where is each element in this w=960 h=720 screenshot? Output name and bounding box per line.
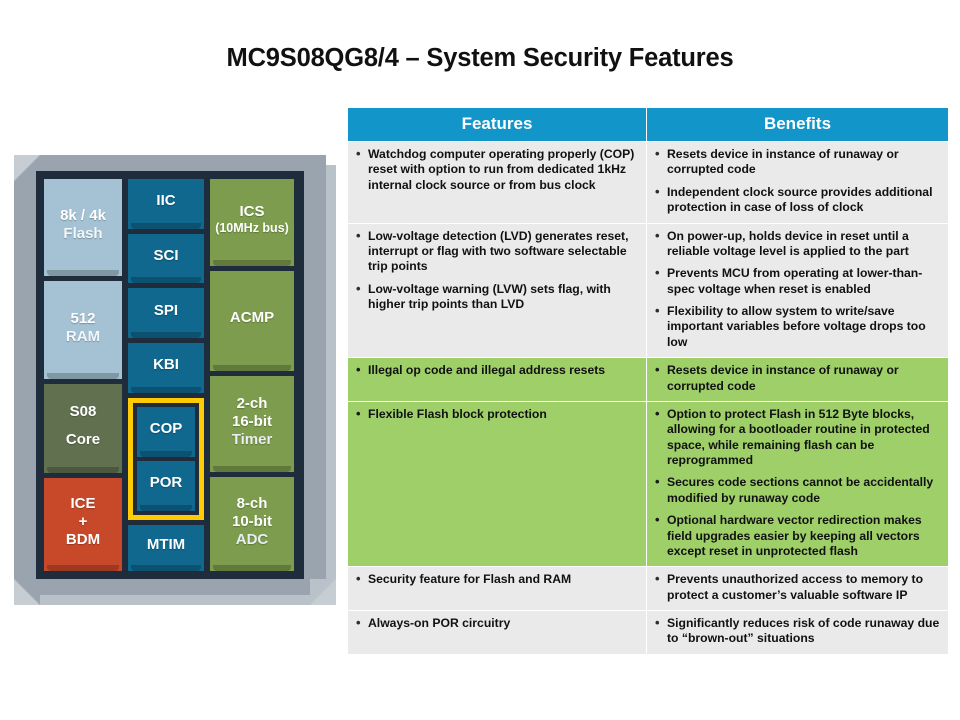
- chip-frame-corner-bottom-left: [14, 579, 40, 605]
- bullet-item: Optional hardware vector redirection mak…: [653, 513, 940, 559]
- bullet-item: Prevents MCU from operating at lower-tha…: [653, 266, 940, 297]
- table-body: Watchdog computer operating properly (CO…: [348, 142, 949, 655]
- chip-block-s08-core: S08 Core: [44, 384, 122, 474]
- bullet-item: Low-voltage warning (LVW) sets flag, wit…: [354, 282, 638, 313]
- chip-block-acmp: ACMP: [210, 271, 294, 371]
- bullet-list: Security feature for Flash and RAM: [354, 572, 638, 587]
- chip-block-timer-line2: 16-bit: [232, 413, 272, 431]
- chip-block-ram-line1: 512: [70, 310, 95, 328]
- bullet-list: Illegal op code and illegal address rese…: [354, 363, 638, 378]
- bullet-list: On power-up, holds device in reset until…: [653, 229, 940, 351]
- chip-block-ice-bdm-line3: BDM: [66, 531, 100, 549]
- chip-block-cop-label: COP: [150, 420, 183, 438]
- chip-block-columns: 8k / 4k Flash 512 RAM S08 Core ICE + BDM…: [44, 179, 296, 571]
- table-row: Low-voltage detection (LVD) generates re…: [348, 223, 949, 358]
- chip-block-timer: 2-ch 16-bit Timer: [210, 376, 294, 472]
- bullet-list: Prevents unauthorized access to memory t…: [653, 572, 940, 603]
- bullet-item: Flexibility to allow system to write/sav…: [653, 304, 940, 350]
- features-cell: Watchdog computer operating properly (CO…: [348, 142, 647, 224]
- bullet-item: On power-up, holds device in reset until…: [653, 229, 940, 260]
- chip-column-analog-clock: ICS (10MHz bus) ACMP 2-ch 16-bit Timer 8…: [210, 179, 294, 571]
- chip-block-ice-bdm: ICE + BDM: [44, 478, 122, 571]
- bullet-list: Significantly reduces risk of code runaw…: [653, 616, 940, 647]
- bullet-list: Resets device in instance of runaway or …: [653, 147, 940, 216]
- chip-block-adc: 8-ch 10-bit ADC: [210, 477, 294, 571]
- bullet-item: Resets device in instance of runaway or …: [653, 363, 940, 394]
- bullet-item: Resets device in instance of runaway or …: [653, 147, 940, 178]
- table-header-row: Features Benefits: [348, 108, 949, 142]
- chip-block-kbi-label: KBI: [153, 356, 179, 374]
- chip-frame-bottom-bevel: [24, 595, 336, 605]
- chip-block-mtim: MTIM: [128, 525, 204, 571]
- chip-block-por-label: POR: [150, 474, 183, 492]
- bullet-item: Secures code sections cannot be accident…: [653, 475, 940, 506]
- chip-block-flash-line2: Flash: [63, 225, 102, 243]
- benefits-cell: Resets device in instance of runaway or …: [647, 358, 949, 402]
- cop-por-highlight-box: COP POR: [128, 398, 204, 520]
- chip-block-flash-line1: 8k / 4k: [60, 207, 106, 225]
- bullet-item: Significantly reduces risk of code runaw…: [653, 616, 940, 647]
- mcu-block-diagram: 8k / 4k Flash 512 RAM S08 Core ICE + BDM…: [14, 155, 336, 617]
- bullet-list: Watchdog computer operating properly (CO…: [354, 147, 638, 193]
- chip-block-ics: ICS (10MHz bus): [210, 179, 294, 266]
- chip-block-sci-label: SCI: [153, 247, 178, 265]
- chip-block-s08-core-line1: S08: [70, 403, 97, 421]
- chip-block-iic-label: IIC: [156, 192, 175, 210]
- table-row: Illegal op code and illegal address rese…: [348, 358, 949, 402]
- features-cell: Security feature for Flash and RAM: [348, 567, 647, 611]
- column-header-benefits: Benefits: [647, 108, 949, 142]
- table-row: Always-on POR circuitrySignificantly red…: [348, 611, 949, 655]
- features-cell: Always-on POR circuitry: [348, 611, 647, 655]
- benefits-cell: Resets device in instance of runaway or …: [647, 142, 949, 224]
- bullet-list: Low-voltage detection (LVD) generates re…: [354, 229, 638, 313]
- column-header-features: Features: [348, 108, 647, 142]
- chip-block-cop: COP: [137, 407, 195, 457]
- benefits-cell: Option to protect Flash in 512 Byte bloc…: [647, 401, 949, 566]
- features-cell: Flexible Flash block protection: [348, 401, 647, 566]
- features-cell: Low-voltage detection (LVD) generates re…: [348, 223, 647, 358]
- chip-block-spi: SPI: [128, 288, 204, 338]
- page-title: MC9S08QG8/4 – System Security Features: [0, 44, 960, 73]
- table-row: Flexible Flash block protectionOption to…: [348, 401, 949, 566]
- benefits-cell: Prevents unauthorized access to memory t…: [647, 567, 949, 611]
- bullet-item: Illegal op code and illegal address rese…: [354, 363, 638, 378]
- chip-block-ram-line2: RAM: [66, 328, 100, 346]
- chip-block-ics-line2: (10MHz bus): [215, 221, 289, 236]
- bullet-item: Option to protect Flash in 512 Byte bloc…: [653, 407, 940, 469]
- chip-block-timer-line3: Timer: [232, 431, 273, 449]
- bullet-list: Flexible Flash block protection: [354, 407, 638, 422]
- benefits-cell: Significantly reduces risk of code runaw…: [647, 611, 949, 655]
- bullet-item: Security feature for Flash and RAM: [354, 572, 638, 587]
- chip-block-iic: IIC: [128, 179, 204, 229]
- bullet-item: Watchdog computer operating properly (CO…: [354, 147, 638, 193]
- table-row: Security feature for Flash and RAMPreven…: [348, 567, 949, 611]
- chip-block-sci: SCI: [128, 234, 204, 284]
- chip-block-ice-bdm-line1: ICE: [70, 495, 95, 513]
- table-row: Watchdog computer operating properly (CO…: [348, 142, 949, 224]
- bullet-list: Always-on POR circuitry: [354, 616, 638, 631]
- chip-block-acmp-label: ACMP: [230, 309, 274, 327]
- chip-block-s08-core-line2: Core: [66, 431, 100, 449]
- chip-block-adc-line3: ADC: [236, 531, 269, 549]
- chip-block-por: POR: [137, 461, 195, 511]
- chip-block-ics-line1: ICS: [239, 203, 264, 221]
- bullet-list: Resets device in instance of runaway or …: [653, 363, 940, 394]
- chip-block-ice-bdm-line2: +: [79, 513, 88, 531]
- bullet-item: Low-voltage detection (LVD) generates re…: [354, 229, 638, 275]
- bullet-item: Prevents unauthorized access to memory t…: [653, 572, 940, 603]
- bullet-item: Always-on POR circuitry: [354, 616, 638, 631]
- chip-block-flash: 8k / 4k Flash: [44, 179, 122, 276]
- chip-column-peripherals: IIC SCI SPI KBI COP POR MTIM: [128, 179, 204, 571]
- chip-block-spi-label: SPI: [154, 302, 178, 320]
- chip-block-mtim-label: MTIM: [147, 536, 185, 554]
- chip-block-adc-line1: 8-ch: [237, 495, 268, 513]
- chip-frame-corner-bottom-right: [310, 579, 336, 605]
- chip-block-ram: 512 RAM: [44, 281, 122, 378]
- features-cell: Illegal op code and illegal address rese…: [348, 358, 647, 402]
- bullet-list: Option to protect Flash in 512 Byte bloc…: [653, 407, 940, 559]
- chip-block-kbi: KBI: [128, 343, 204, 393]
- benefits-cell: On power-up, holds device in reset until…: [647, 223, 949, 358]
- chip-block-adc-line2: 10-bit: [232, 513, 272, 531]
- chip-frame-right-bevel: [326, 165, 336, 605]
- features-benefits-table: Features Benefits Watchdog computer oper…: [347, 107, 949, 655]
- bullet-item: Flexible Flash block protection: [354, 407, 638, 422]
- bullet-item: Independent clock source provides additi…: [653, 185, 940, 216]
- chip-block-timer-line1: 2-ch: [237, 395, 268, 413]
- chip-column-memory-core: 8k / 4k Flash 512 RAM S08 Core ICE + BDM: [44, 179, 122, 571]
